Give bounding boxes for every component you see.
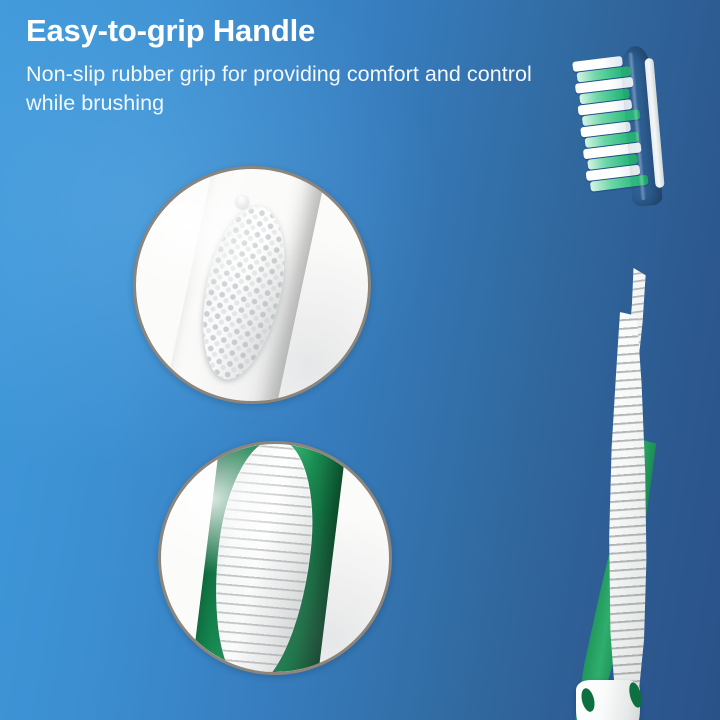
page-subtitle: Non-slip rubber grip for providing comfo… <box>26 60 586 119</box>
callout-thumb-pad-detail <box>133 166 371 404</box>
page-title: Easy-to-grip Handle <box>26 14 586 49</box>
toothbrush-illustration <box>540 40 710 710</box>
text-block: Easy-to-grip Handle Non-slip rubber grip… <box>26 14 586 119</box>
callout-palm-grip-detail <box>158 441 392 675</box>
callout-image-upper <box>136 169 368 401</box>
feature-card: Easy-to-grip Handle Non-slip rubber grip… <box>0 0 720 720</box>
callout-image-lower <box>161 444 389 672</box>
